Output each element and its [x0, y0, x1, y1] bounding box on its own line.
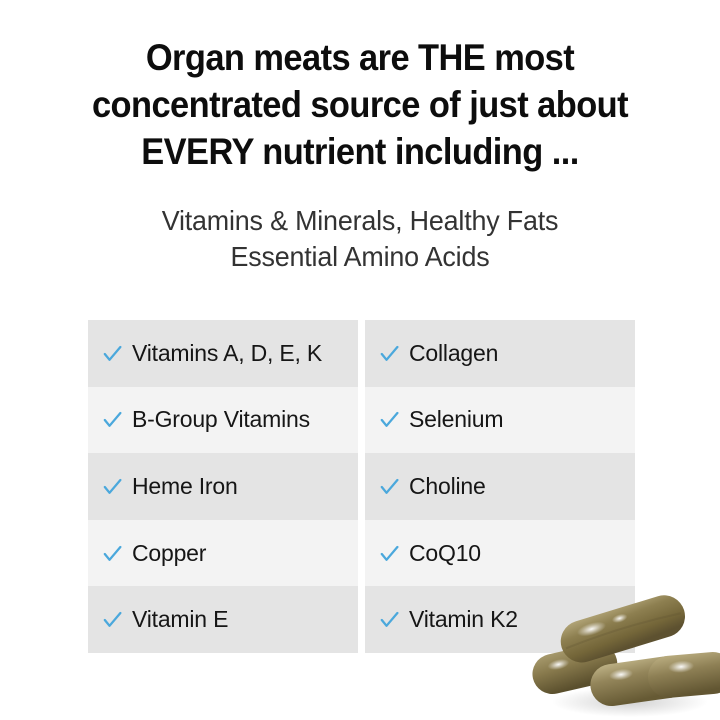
table-row: Vitamin E Vitamin K2 [88, 586, 636, 653]
page-title: Organ meats are THE most concentrated so… [62, 34, 657, 175]
nutrient-label: Selenium [409, 408, 503, 431]
nutrient-label: B-Group Vitamins [132, 408, 310, 431]
check-icon [379, 476, 400, 497]
table-row: Copper CoQ10 [88, 520, 636, 587]
nutrient-cell-right-2: Selenium [365, 387, 635, 454]
nutrient-cell-right-3: Choline [365, 453, 635, 520]
nutrient-cell-left-2: B-Group Vitamins [88, 387, 358, 454]
nutrient-label: Vitamin K2 [409, 608, 518, 631]
nutrient-cell-right-1: Collagen [365, 320, 635, 387]
table-row: B-Group Vitamins Selenium [88, 387, 636, 454]
check-icon [102, 476, 123, 497]
nutrient-label: Vitamin E [132, 608, 228, 631]
check-icon [102, 543, 123, 564]
subheadline-line-2: Essential Amino Acids [53, 239, 667, 275]
check-icon [379, 343, 400, 364]
table-row: Vitamins A, D, E, K Collagen [88, 320, 636, 387]
check-icon [379, 609, 400, 630]
subheadline-line-1: Vitamins & Minerals, Healthy Fats [53, 203, 667, 239]
nutrient-label: Collagen [409, 342, 498, 365]
nutrient-label: Copper [132, 542, 206, 565]
check-icon [379, 409, 400, 430]
table-row: Heme Iron Choline [88, 453, 636, 520]
nutrient-label: Vitamins A, D, E, K [132, 342, 322, 365]
check-icon [102, 343, 123, 364]
check-icon [102, 609, 123, 630]
page-subtitle: Vitamins & Minerals, Healthy Fats Essent… [53, 203, 667, 275]
headline-line-2: concentrated source of just about [62, 81, 657, 128]
nutrient-cell-left-1: Vitamins A, D, E, K [88, 320, 358, 387]
nutrient-cell-right-5: Vitamin K2 [365, 586, 635, 653]
check-icon [102, 409, 123, 430]
nutrient-label: Choline [409, 475, 486, 498]
nutrient-label: CoQ10 [409, 542, 481, 565]
nutrient-cell-left-5: Vitamin E [88, 586, 358, 653]
headline-line-1: Organ meats are THE most [62, 34, 657, 81]
headline-line-3: EVERY nutrient including ... [62, 128, 657, 175]
promo-graphic: Organ meats are THE most concentrated so… [0, 0, 720, 720]
nutrient-cell-left-3: Heme Iron [88, 453, 358, 520]
nutrient-cell-left-4: Copper [88, 520, 358, 587]
check-icon [379, 543, 400, 564]
nutrient-list-table: Vitamins A, D, E, K Collagen B-Group Vit… [88, 320, 636, 653]
nutrient-cell-right-4: CoQ10 [365, 520, 635, 587]
nutrient-label: Heme Iron [132, 475, 238, 498]
